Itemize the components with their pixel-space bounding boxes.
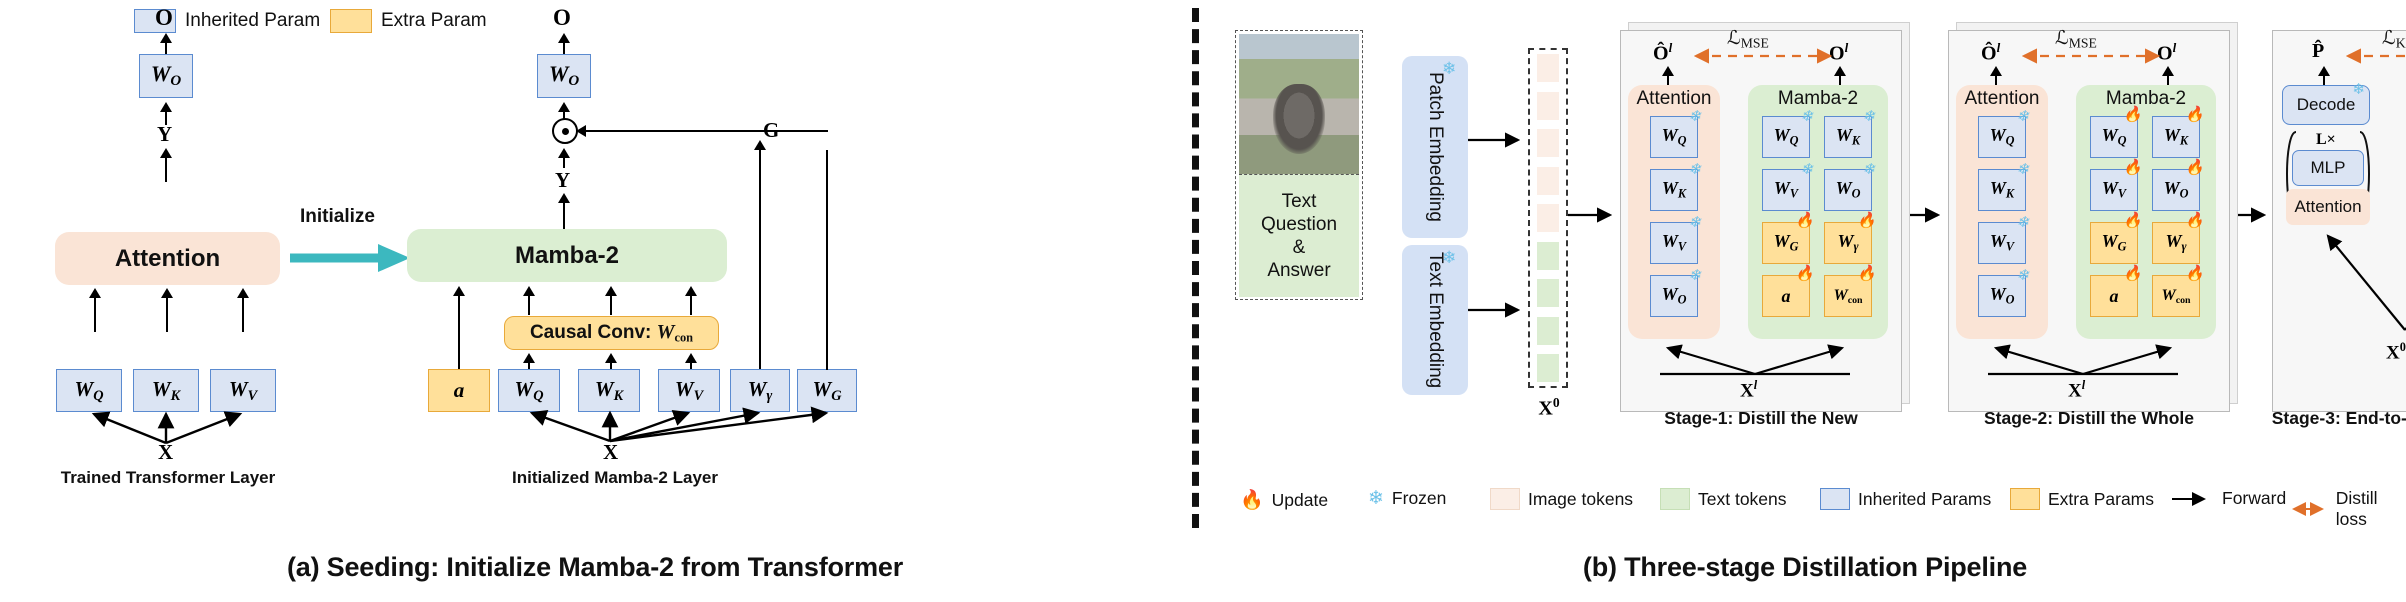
snowflake-icon: ❄ bbox=[1688, 163, 1701, 178]
legend-text-tokens: Text tokens bbox=[1660, 488, 1787, 510]
text-token bbox=[1537, 354, 1559, 382]
stage-2-title: Stage-2: Distill the Whole bbox=[1948, 408, 2230, 429]
edge-line bbox=[242, 297, 244, 332]
legend-label: Update bbox=[1272, 490, 1328, 511]
stage-3-title: Stage-3: End-to-End Distillation bbox=[2258, 408, 2406, 429]
stage1-mamba-wk: WK❄ bbox=[1824, 116, 1872, 158]
stage2-attention-label: Attention bbox=[1956, 85, 2048, 110]
arrow-up-icon bbox=[160, 102, 172, 112]
mamba-output-label: O bbox=[553, 5, 571, 31]
mamba-x-label: X bbox=[603, 440, 618, 465]
stage1-attn-wv: WV❄ bbox=[1650, 222, 1698, 264]
mamba-wo-box: WO bbox=[537, 54, 591, 98]
stage-1-title: Stage-1: Distill the New bbox=[1620, 408, 1902, 429]
snowflake-icon: ❄ bbox=[2016, 216, 2029, 231]
text-line-1: Text bbox=[1282, 190, 1317, 213]
legend-forward: Forward bbox=[2172, 488, 2286, 509]
fire-icon: 🔥 bbox=[1240, 488, 1264, 512]
wv-label: WV bbox=[229, 377, 257, 405]
edge-line bbox=[94, 297, 96, 332]
attention-label: Attention bbox=[115, 245, 220, 273]
stage1-distill-arrow bbox=[1690, 47, 1836, 65]
text-line-4: Answer bbox=[1267, 259, 1330, 282]
a-label: a bbox=[454, 378, 465, 403]
edge-line bbox=[166, 297, 168, 332]
snowflake-icon: ❄ bbox=[2016, 163, 2029, 178]
stage3-input-label: X0 bbox=[2386, 340, 2406, 364]
tokens-to-stage1-arrow bbox=[1568, 205, 1620, 225]
stage2-mamba-wq: WQ🔥 bbox=[2090, 116, 2138, 158]
arrow-up-icon bbox=[558, 193, 570, 203]
text-embedding-label: Text Embedding bbox=[1424, 252, 1446, 388]
stage3-mlp-left: MLP bbox=[2292, 150, 2364, 186]
fire-icon: 🔥 bbox=[1857, 214, 1876, 229]
stage2-distill-arrow bbox=[2018, 47, 2164, 65]
text-line-3: & bbox=[1293, 236, 1306, 259]
decode-label: Decode bbox=[2297, 95, 2356, 115]
swatch-icon bbox=[330, 9, 372, 33]
stage3-attention-block: Attention bbox=[2286, 189, 2370, 225]
stage1-attention-col: Attention WQ❄ WK❄ WV❄ WO❄ bbox=[1628, 85, 1720, 339]
mlp-label: MLP bbox=[2311, 158, 2346, 178]
wk-label: WK bbox=[595, 377, 623, 405]
stage1-mamba-wv: WV❄ bbox=[1762, 169, 1810, 211]
legend-label: Forward bbox=[2222, 488, 2286, 509]
stage2-input-edges bbox=[1988, 344, 2178, 380]
panel-b-caption: (b) Three-stage Distillation Pipeline bbox=[1210, 552, 2400, 583]
legend-frozen: ❄ Frozen bbox=[1368, 488, 1446, 509]
edge-line bbox=[563, 158, 565, 168]
edge-line bbox=[1839, 75, 1841, 85]
stage2-mamba-wg: WG🔥 bbox=[2090, 222, 2138, 264]
wo-label: WO bbox=[549, 61, 579, 90]
wg-label: WG bbox=[813, 377, 842, 405]
stage2-attn-wo: WO❄ bbox=[1978, 275, 2026, 317]
stage1-mamba-wg: WG🔥 bbox=[1762, 222, 1810, 264]
arrow-solid-icon bbox=[2172, 492, 2214, 506]
mamba-block: Mamba-2 bbox=[407, 229, 727, 282]
legend-label: Frozen bbox=[1392, 488, 1446, 509]
panel-a-caption: (a) Seeding: Initialize Mamba-2 from Tra… bbox=[10, 552, 1180, 583]
stage1-attn-wk: WK❄ bbox=[1650, 169, 1698, 211]
g-edge-line bbox=[578, 130, 760, 132]
stage2-ohat-label: Ôl bbox=[1981, 40, 2000, 66]
wg-vertical-line bbox=[826, 150, 828, 370]
tokens-x0-label: X0 bbox=[1527, 395, 1571, 421]
causal-conv-box: Causal Conv: Wcon bbox=[504, 316, 719, 350]
legend-label: Text tokens bbox=[1698, 489, 1787, 510]
wq-label: WQ bbox=[75, 377, 104, 405]
image-token bbox=[1537, 204, 1559, 232]
snowflake-icon: ❄ bbox=[2016, 110, 2029, 125]
legend-inherited-params: Inherited Params bbox=[1820, 488, 1991, 510]
edge-line bbox=[610, 295, 612, 315]
arrow-up-icon bbox=[160, 148, 172, 158]
stage3-distill-arrow bbox=[2342, 47, 2406, 65]
arrow-dashed-icon bbox=[2288, 502, 2328, 516]
edge-line bbox=[458, 295, 460, 369]
edge-line bbox=[2167, 75, 2169, 85]
stage1-mamba-wo: WO❄ bbox=[1824, 169, 1872, 211]
edge-line bbox=[1667, 75, 1669, 85]
fire-icon: 🔥 bbox=[2123, 214, 2142, 229]
g-vertical-line bbox=[759, 148, 761, 374]
edge-line bbox=[563, 203, 565, 229]
cat-photo bbox=[1239, 34, 1359, 174]
wv-label: WV bbox=[675, 377, 703, 405]
snowflake-icon: ❄ bbox=[1688, 110, 1701, 125]
snowflake-icon: ❄ bbox=[1688, 269, 1701, 284]
fire-icon: 🔥 bbox=[2185, 108, 2204, 123]
fire-icon: 🔥 bbox=[1857, 267, 1876, 282]
snowflake-icon: ❄ bbox=[1800, 110, 1813, 125]
patch-to-tokens-arrow bbox=[1468, 130, 1528, 150]
fire-icon: 🔥 bbox=[2123, 161, 2142, 176]
transformer-wo-box: WO bbox=[139, 54, 193, 98]
legend-distill-loss: Distill loss bbox=[2288, 488, 2406, 530]
wq-label: WQ bbox=[515, 377, 544, 405]
input-group: Text Question & Answer bbox=[1235, 30, 1363, 300]
snowflake-icon: ❄ bbox=[1442, 249, 1456, 266]
fire-icon: 🔥 bbox=[2185, 267, 2204, 282]
stage1-input-edges bbox=[1660, 344, 1850, 380]
snowflake-icon: ❄ bbox=[1862, 110, 1875, 125]
arrow-up-icon bbox=[754, 140, 766, 150]
stage1-to-stage2-arrow bbox=[1910, 205, 1948, 225]
mamba-sublabel: Initialized Mamba-2 Layer bbox=[480, 468, 750, 488]
wg-top-line bbox=[759, 130, 828, 132]
legend-label: Inherited Param bbox=[185, 10, 320, 32]
stage2-to-stage3-arrow bbox=[2238, 205, 2274, 225]
stage2-mamba-wv: WV🔥 bbox=[2090, 169, 2138, 211]
edge-line bbox=[2323, 75, 2325, 85]
mamba-y-label: Y bbox=[555, 168, 570, 193]
stage2-input-label: Xl bbox=[2068, 378, 2085, 402]
snowflake-icon: ❄ bbox=[1442, 60, 1456, 77]
text-token bbox=[1537, 279, 1559, 307]
snowflake-icon: ❄ bbox=[1862, 163, 1875, 178]
arrow-up-icon bbox=[558, 102, 570, 112]
snowflake-icon: ❄ bbox=[2016, 269, 2029, 284]
fire-icon: 🔥 bbox=[2123, 108, 2142, 123]
mamba-gate-op bbox=[552, 118, 578, 144]
stage2-attn-wv: WV❄ bbox=[1978, 222, 2026, 264]
legend-label: Extra Param bbox=[381, 10, 487, 32]
text-to-tokens-arrow bbox=[1468, 300, 1528, 320]
stage2-mamba-col: Mamba-2 WQ🔥 WV🔥 WG🔥 a🔥 WK🔥 WO🔥 Wγ🔥 Wcon🔥 bbox=[2076, 85, 2216, 339]
text-embedding-block: Text Embedding ❄ bbox=[1402, 245, 1468, 395]
stage2-mamba-wcon: Wcon🔥 bbox=[2152, 275, 2200, 317]
causal-conv-label: Causal Conv: Wcon bbox=[530, 321, 693, 345]
stage2-attn-wk: WK❄ bbox=[1978, 169, 2026, 211]
stage1-ohat-label: Ôl bbox=[1653, 40, 1672, 66]
stage1-mamba-wq: WQ❄ bbox=[1762, 116, 1810, 158]
mamba-label: Mamba-2 bbox=[515, 242, 619, 270]
legend-label: Extra Params bbox=[2048, 489, 2154, 510]
gate-dot-icon bbox=[562, 128, 569, 135]
stage1-attention-label: Attention bbox=[1628, 85, 1720, 110]
stage1-mamba-wgamma: Wγ🔥 bbox=[1824, 222, 1872, 264]
stage1-attn-wo: WO❄ bbox=[1650, 275, 1698, 317]
edge-line bbox=[1995, 75, 1997, 85]
image-token-swatch-icon bbox=[1490, 488, 1520, 510]
stage2-mamba-wk: WK🔥 bbox=[2152, 116, 2200, 158]
stage2-mamba-wo: WO🔥 bbox=[2152, 169, 2200, 211]
mamba-fanout-edges bbox=[420, 405, 840, 453]
text-question-block: Text Question & Answer bbox=[1239, 174, 1359, 297]
token-strip bbox=[1528, 48, 1568, 388]
stage3-decode-left: Decode ❄ bbox=[2282, 85, 2370, 125]
fire-icon: 🔥 bbox=[2185, 214, 2204, 229]
edge-line bbox=[165, 42, 167, 54]
legend-extra-param: Extra Param bbox=[330, 9, 487, 33]
patch-embedding-label: Patch Embedding bbox=[1424, 72, 1446, 222]
image-token bbox=[1537, 167, 1559, 195]
edge-line bbox=[690, 295, 692, 315]
transformer-output-label: O bbox=[155, 5, 173, 31]
fire-icon: 🔥 bbox=[2123, 267, 2142, 282]
legend-label: Image tokens bbox=[1528, 489, 1633, 510]
fire-icon: 🔥 bbox=[1795, 267, 1814, 282]
snowflake-icon: ❄ bbox=[1688, 216, 1701, 231]
stage3-phat-label: P̂ bbox=[2312, 40, 2324, 63]
inherited-swatch-icon bbox=[1820, 488, 1850, 510]
stage1-mamba-col: Mamba-2 WQ❄ WV❄ WG🔥 a🔥 WK❄ WO❄ Wγ🔥 Wcon🔥 bbox=[1748, 85, 1888, 339]
legend-extra-params: Extra Params bbox=[2010, 488, 2154, 510]
text-token bbox=[1537, 242, 1559, 270]
stage2-mamba-wgamma: Wγ🔥 bbox=[2152, 222, 2200, 264]
wk-label: WK bbox=[152, 377, 180, 405]
text-token bbox=[1537, 317, 1559, 345]
panel-divider bbox=[1192, 8, 1199, 528]
arrow-up-icon bbox=[558, 148, 570, 158]
fire-icon: 🔥 bbox=[1795, 214, 1814, 229]
arrow-left-icon bbox=[576, 125, 586, 137]
stage1-input-label: Xl bbox=[1740, 378, 1757, 402]
extra-swatch-icon bbox=[2010, 488, 2040, 510]
transformer-y-label: Y bbox=[157, 122, 172, 147]
snowflake-icon: ❄ bbox=[2352, 82, 2365, 97]
transformer-attention-block: Attention bbox=[55, 232, 280, 285]
stage2-mamba-a: a🔥 bbox=[2090, 275, 2138, 317]
stage3-input-edges bbox=[2300, 230, 2406, 342]
fire-icon: 🔥 bbox=[2185, 161, 2204, 176]
edge-line bbox=[528, 295, 530, 315]
text-token-swatch-icon bbox=[1660, 488, 1690, 510]
edge-line bbox=[165, 158, 167, 182]
edge-line bbox=[563, 42, 565, 54]
legend-label: Distill loss bbox=[2336, 488, 2406, 530]
legend-update: 🔥 Update bbox=[1240, 488, 1328, 512]
figure-canvas: Inherited Param Extra Param O WO Y Atten… bbox=[0, 0, 2406, 602]
stage1-mamba-wcon: Wcon🔥 bbox=[1824, 275, 1872, 317]
stage2-attention-col: Attention WQ❄ WK❄ WV❄ WO❄ bbox=[1956, 85, 2048, 339]
wgamma-label: Wγ bbox=[748, 377, 773, 405]
stage2-attn-wq: WQ❄ bbox=[1978, 116, 2026, 158]
image-token bbox=[1537, 92, 1559, 120]
patch-embedding-block: Patch Embedding ❄ bbox=[1402, 56, 1468, 238]
legend-label: Inherited Params bbox=[1858, 489, 1991, 510]
stage1-mamba-a: a🔥 bbox=[1762, 275, 1810, 317]
image-token bbox=[1537, 129, 1559, 157]
attention-label: Attention bbox=[2294, 197, 2361, 217]
text-line-2: Question bbox=[1261, 213, 1337, 236]
stage1-mamba-label: Mamba-2 bbox=[1748, 85, 1888, 110]
stage1-attn-wq: WQ❄ bbox=[1650, 116, 1698, 158]
snowflake-icon: ❄ bbox=[1800, 163, 1813, 178]
transformer-x-label: X bbox=[158, 440, 173, 465]
snowflake-icon: ❄ bbox=[1368, 489, 1384, 508]
initialize-arrow bbox=[290, 232, 412, 272]
image-token bbox=[1537, 54, 1559, 82]
transformer-sublabel: Trained Transformer Layer bbox=[48, 468, 288, 488]
initialize-label: Initialize bbox=[300, 206, 375, 228]
wo-label: WO bbox=[151, 61, 181, 90]
legend-image-tokens: Image tokens bbox=[1490, 488, 1633, 510]
